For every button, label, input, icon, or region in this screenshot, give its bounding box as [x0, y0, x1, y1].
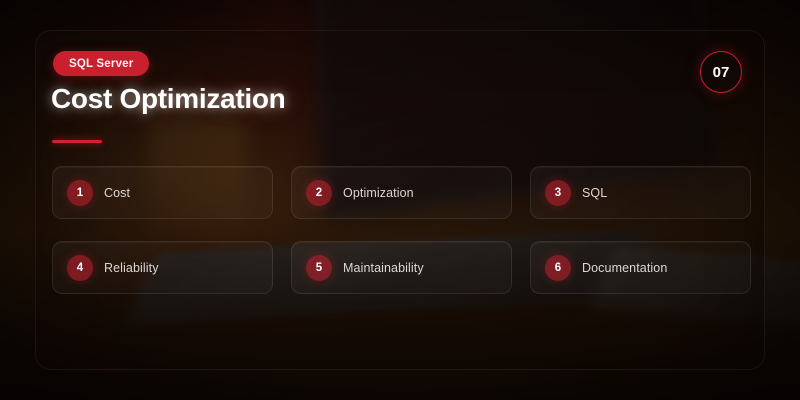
topic-card[interactable]: 3 SQL [530, 166, 751, 219]
topic-number-badge: 3 [545, 180, 571, 206]
topic-card[interactable]: 1 Cost [52, 166, 273, 219]
title-divider [52, 140, 102, 143]
topic-number-badge: 2 [306, 180, 332, 206]
topic-number-badge: 1 [67, 180, 93, 206]
topic-card[interactable]: 5 Maintainability [291, 241, 512, 294]
page-title: Cost Optimization [51, 83, 285, 115]
topic-card-label: Documentation [582, 261, 667, 275]
topic-card-grid: 1 Cost 2 Optimization 3 SQL 4 Reliabilit… [52, 166, 751, 294]
page-number-badge: 07 [700, 51, 742, 93]
slide-stage: SQL Server Cost Optimization 07 1 Cost 2… [0, 0, 800, 400]
category-pill: SQL Server [53, 51, 149, 76]
topic-number-badge: 5 [306, 255, 332, 281]
topic-number-badge: 4 [67, 255, 93, 281]
content-panel: SQL Server Cost Optimization 07 1 Cost 2… [35, 30, 765, 370]
topic-number-badge: 6 [545, 255, 571, 281]
topic-card-label: Reliability [104, 261, 159, 275]
topic-card-label: SQL [582, 186, 607, 200]
topic-card-label: Cost [104, 186, 130, 200]
topic-card[interactable]: 2 Optimization [291, 166, 512, 219]
topic-card[interactable]: 6 Documentation [530, 241, 751, 294]
topic-card-label: Maintainability [343, 261, 424, 275]
topic-card[interactable]: 4 Reliability [52, 241, 273, 294]
topic-card-label: Optimization [343, 186, 414, 200]
